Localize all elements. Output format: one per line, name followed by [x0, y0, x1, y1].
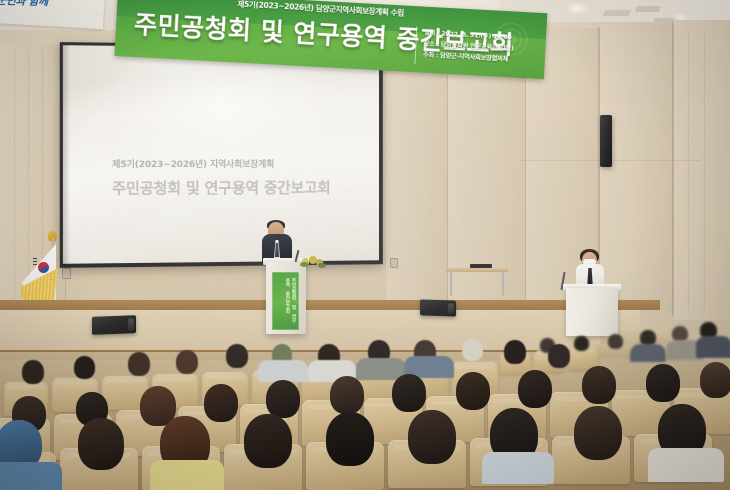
attendee-head — [244, 414, 292, 468]
wall-grain-line — [688, 30, 689, 310]
attendee-head — [330, 376, 364, 414]
speaker-grille — [128, 318, 134, 330]
attendee-head — [608, 334, 623, 349]
ceiling-vent — [635, 6, 661, 12]
leaf-icon — [300, 262, 309, 267]
attendee-head — [548, 344, 570, 368]
wall-outlet — [62, 268, 71, 279]
attendee-head — [392, 374, 426, 412]
attendee-shoulders — [150, 460, 224, 490]
wall-grain-line — [14, 50, 15, 300]
attendee-shoulders — [0, 462, 62, 490]
leaf-icon — [318, 263, 326, 268]
attendee-head — [204, 384, 238, 422]
projection-screen: 제5기(2023~2026년) 지역사회보장계획 주민공청회 및 연구용역 중간… — [60, 42, 383, 268]
wall-grain-line — [704, 30, 705, 310]
attendee-head — [408, 410, 456, 464]
attendee-head — [78, 418, 124, 470]
stage-monitor-speaker-icon — [92, 315, 136, 335]
banner-details: 일시 : 2022. 8. 31.(수) 14:00 장소 : 담양문화원 인문… — [423, 29, 515, 66]
podium-banner-text: 주민공청회 및 연구용역 중간보고회 — [275, 278, 296, 326]
ceiling-light — [566, 4, 588, 13]
table-equipment — [470, 264, 492, 268]
slide-subtitle: 제5기(2023~2026년) 지역사회보장계획 — [112, 157, 274, 170]
ceiling-vent — [603, 10, 631, 16]
speaker-grille — [448, 303, 454, 313]
wall-grain-line — [28, 50, 29, 300]
flower-arrangement — [300, 256, 326, 268]
attendee-shoulders — [696, 336, 730, 358]
attendee-head — [700, 362, 730, 398]
podium-banner: 주민공청회 및 연구용역 중간보고회 — [272, 272, 299, 330]
attendee-head — [504, 340, 526, 364]
attendee-head — [574, 406, 622, 460]
table-leg — [502, 272, 504, 296]
wall-baseboard — [0, 300, 660, 310]
attendee-head — [462, 338, 483, 361]
attendee-shoulders — [258, 360, 308, 382]
attendee-head — [74, 356, 95, 379]
attendee-head — [456, 372, 490, 410]
side-table — [446, 268, 508, 272]
taeguk-symbol-icon — [38, 262, 49, 273]
wall-outlet — [390, 258, 398, 268]
attendee-shoulders — [630, 344, 666, 362]
attendee-head — [646, 364, 680, 402]
trigram-icon — [33, 264, 37, 265]
screen-surface: 제5기(2023~2026년) 지역사회보장계획 주민공청회 및 연구용역 중간… — [63, 45, 379, 264]
attendee-head — [326, 412, 374, 466]
slide-title: 주민공청회 및 연구용역 중간보고회 — [112, 177, 330, 199]
attendee-head — [128, 352, 150, 376]
slogan-text: 군민과 함께 — [0, 0, 48, 9]
attendee-shoulders — [648, 448, 724, 482]
attendee-head — [582, 366, 616, 404]
wall-panel — [600, 24, 674, 314]
table-leg — [450, 272, 452, 296]
attendee-head — [226, 344, 248, 368]
attendee-head — [518, 370, 552, 408]
attendee-head — [22, 360, 44, 384]
attendee-head — [176, 350, 198, 374]
trigram-icon — [33, 258, 37, 259]
lectern — [566, 288, 618, 336]
wall-panel — [0, 44, 66, 306]
stage-monitor-speaker-icon — [420, 299, 456, 316]
wall-speaker-icon — [600, 115, 612, 167]
screen-edge-shadow — [62, 44, 70, 266]
wall-panel — [674, 20, 730, 320]
event-photo: 제5기(2023~2026년) 지역사회보장계획 주민공청회 및 연구용역 중간… — [0, 0, 730, 490]
attendee-shoulders — [482, 452, 554, 484]
attendee-head — [574, 336, 589, 351]
trigram-icon — [33, 261, 37, 262]
wall-seam — [672, 22, 673, 316]
attendee-head — [266, 380, 300, 418]
